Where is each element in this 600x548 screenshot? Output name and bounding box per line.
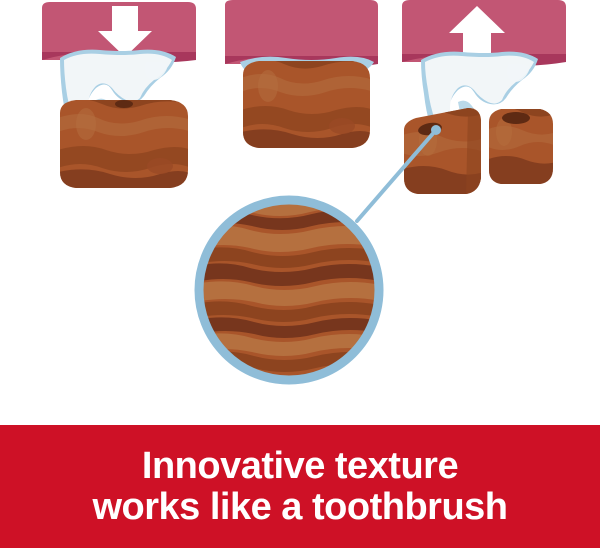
kibble-whole-2 [241, 55, 374, 152]
panel-bite-through [225, 0, 378, 152]
panel-press-down [42, 2, 196, 192]
kibble-piece-left [400, 104, 484, 198]
infographic-root: Innovative texture works like a toothbru… [0, 0, 600, 548]
panel-lift-up [400, 0, 566, 198]
caption-band: Innovative texture works like a toothbru… [0, 425, 600, 548]
texture-magnifier-circle [195, 196, 385, 386]
kibble-piece-right [486, 102, 556, 188]
illustration-svg [0, 0, 600, 425]
caption-line-1: Innovative texture [142, 446, 458, 487]
illustration-stage [0, 0, 600, 425]
kibble-whole-1 [58, 96, 192, 192]
caption-line-2: works like a toothbrush [92, 487, 507, 528]
